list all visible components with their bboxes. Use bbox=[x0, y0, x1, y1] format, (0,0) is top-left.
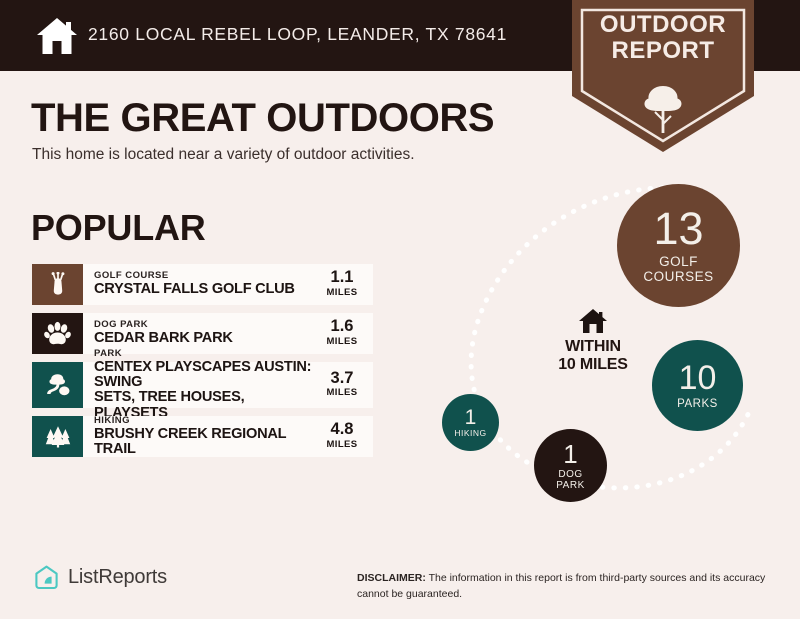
list-item-distance: 4.8 MILES bbox=[318, 416, 373, 457]
list-item[interactable]: HIKING BRUSHY CREEK REGIONAL TRAIL 4.8 M… bbox=[32, 416, 373, 457]
list-item-distance: 1.1 MILES bbox=[318, 264, 373, 305]
distance-unit: MILES bbox=[326, 286, 357, 300]
pine-trees-icon bbox=[44, 424, 72, 450]
list-item-text: PARK CENTEX PLAYSCAPES AUSTIN: SWING SET… bbox=[83, 362, 318, 408]
list-item-distance: 1.6 MILES bbox=[318, 313, 373, 354]
bubble-value: 1 bbox=[465, 407, 477, 428]
popular-list: GOLF COURSE CRYSTAL FALLS GOLF CLUB 1.1 … bbox=[32, 264, 373, 465]
disclaimer: DISCLAIMER: The information in this repo… bbox=[357, 571, 777, 603]
list-item[interactable]: PARK CENTEX PLAYSCAPES AUSTIN: SWING SET… bbox=[32, 362, 373, 408]
list-item-distance: 3.7 MILES bbox=[318, 362, 373, 408]
bubble-value: 1 bbox=[563, 441, 577, 467]
outdoor-report-badge: OUTDOOR REPORT bbox=[572, 0, 754, 152]
bubble-hiking[interactable]: 1 HIKING bbox=[442, 394, 499, 451]
logo-text: ListReports bbox=[68, 566, 167, 589]
bubble-label: HIKING bbox=[454, 429, 486, 438]
listreports-logo[interactable]: ListReports bbox=[33, 564, 167, 591]
page-title: THE GREAT OUTDOORS bbox=[31, 96, 494, 141]
list-item-icon-tile bbox=[32, 416, 83, 457]
badge-shield-shape bbox=[572, 0, 754, 152]
list-item-icon-tile bbox=[32, 313, 83, 354]
list-item-category: HIKING bbox=[94, 416, 318, 427]
list-item-icon-tile bbox=[32, 362, 83, 408]
disclaimer-label: DISCLAIMER: bbox=[357, 572, 426, 584]
list-item-name: BRUSHY CREEK REGIONAL TRAIL bbox=[94, 427, 318, 458]
bubble-dog-park[interactable]: 1 DOG PARK bbox=[534, 429, 607, 502]
list-item-text: HIKING BRUSHY CREEK REGIONAL TRAIL bbox=[83, 416, 318, 457]
list-item-icon-tile bbox=[32, 264, 83, 305]
park-tree-icon bbox=[44, 372, 72, 398]
bubble-label: DOG PARK bbox=[556, 469, 585, 491]
property-address: 2160 LOCAL REBEL LOOP, LEANDER, TX 78641 bbox=[88, 24, 507, 45]
paw-print-icon bbox=[44, 321, 71, 347]
list-item-category: PARK bbox=[94, 349, 318, 360]
bubble-value: 13 bbox=[653, 206, 703, 251]
list-item-name: CRYSTAL FALLS GOLF CLUB bbox=[94, 282, 318, 297]
list-item-name: CEDAR BARK PARK bbox=[94, 331, 318, 346]
distance-unit: MILES bbox=[326, 335, 357, 349]
distance-value: 1.1 bbox=[331, 269, 354, 286]
house-icon bbox=[578, 308, 608, 334]
house-icon bbox=[36, 16, 78, 56]
distance-value: 3.7 bbox=[331, 370, 354, 387]
page-subtitle: This home is located near a variety of o… bbox=[32, 146, 415, 164]
bubble-value: 10 bbox=[679, 361, 717, 395]
bubble-chart: 13 GOLF COURSES 10 PARKS 1 DOG PARK 1 HI… bbox=[420, 160, 800, 550]
bubble-parks[interactable]: 10 PARKS bbox=[652, 340, 743, 431]
list-item-name: CENTEX PLAYSCAPES AUSTIN: SWING SETS, TR… bbox=[94, 360, 318, 422]
listreports-house-logo-icon bbox=[33, 564, 60, 591]
list-item[interactable]: GOLF COURSE CRYSTAL FALLS GOLF CLUB 1.1 … bbox=[32, 264, 373, 305]
chart-center-label: WITHIN 10 MILES bbox=[525, 338, 661, 374]
popular-heading: POPULAR bbox=[31, 207, 206, 249]
outdoor-report-page: 2160 LOCAL REBEL LOOP, LEANDER, TX 78641… bbox=[0, 0, 800, 619]
distance-value: 4.8 bbox=[331, 421, 354, 438]
bubble-label: PARKS bbox=[677, 398, 718, 411]
chart-center-marker: WITHIN 10 MILES bbox=[525, 308, 661, 374]
distance-value: 1.6 bbox=[331, 318, 354, 335]
distance-unit: MILES bbox=[326, 386, 357, 400]
bubble-golf-courses[interactable]: 13 GOLF COURSES bbox=[617, 184, 740, 307]
distance-unit: MILES bbox=[326, 438, 357, 452]
bubble-label: GOLF COURSES bbox=[643, 255, 713, 285]
list-item-text: GOLF COURSE CRYSTAL FALLS GOLF CLUB bbox=[83, 264, 318, 305]
golf-bag-icon bbox=[45, 272, 71, 298]
